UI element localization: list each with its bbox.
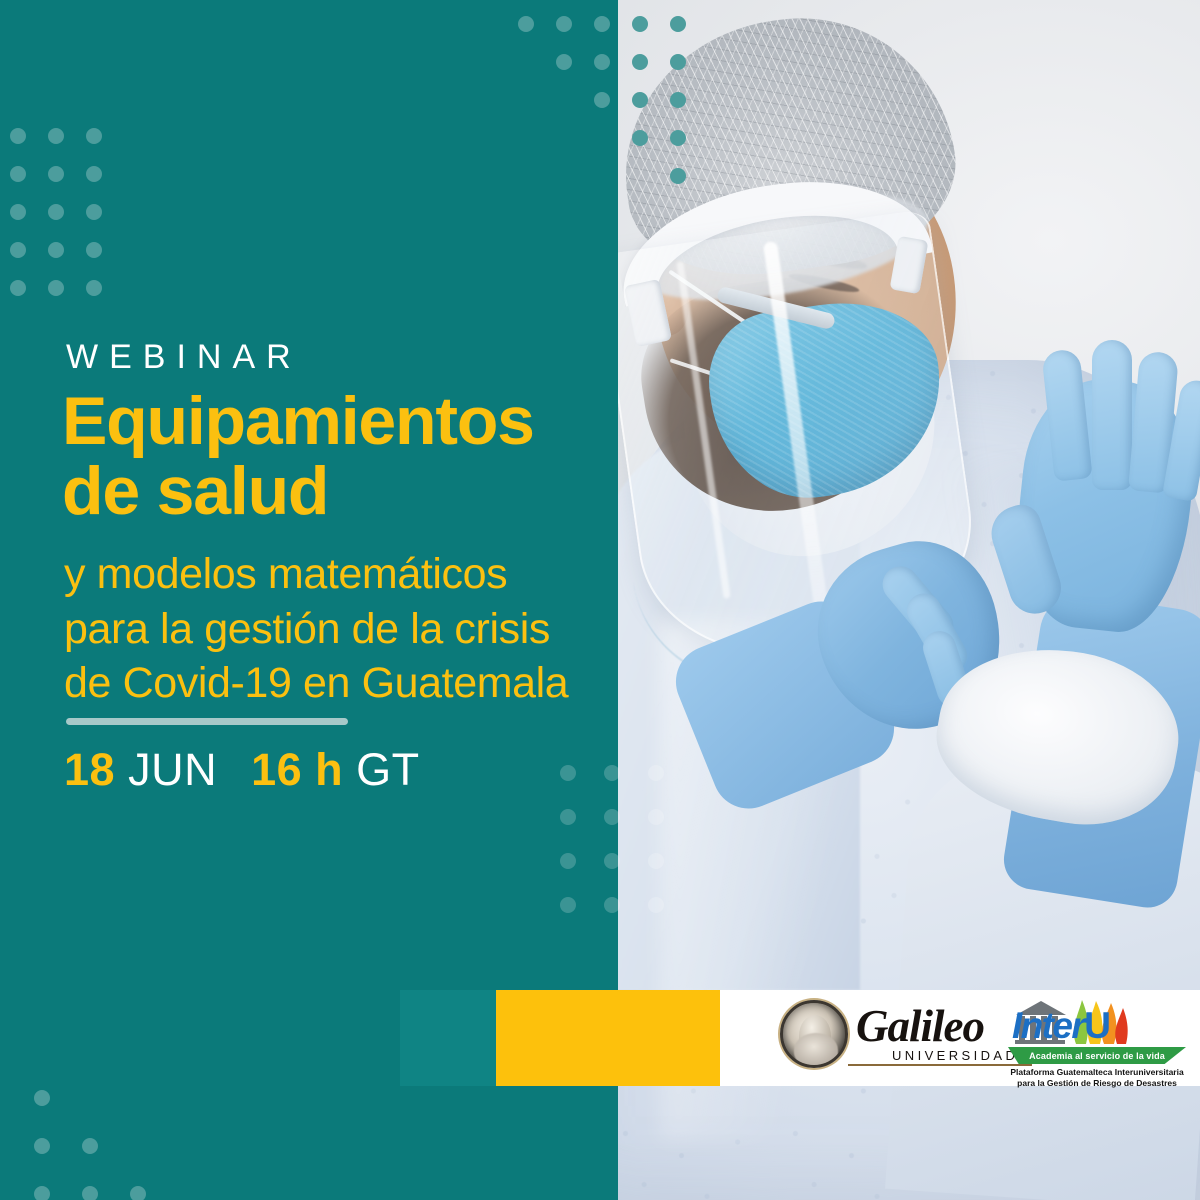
decorative-dot xyxy=(34,1138,50,1154)
decorative-dot xyxy=(86,166,102,182)
decorative-dot xyxy=(86,128,102,144)
decorative-dot xyxy=(560,809,576,825)
event-time: 16 h xyxy=(251,744,343,795)
decorative-dot xyxy=(82,1138,98,1154)
decorative-dot xyxy=(34,1186,50,1200)
decorative-dot xyxy=(34,1090,50,1106)
decorative-dot xyxy=(632,16,648,32)
page-title: Equipamientos de salud xyxy=(62,386,622,526)
decorative-dot xyxy=(86,204,102,220)
decorative-dot xyxy=(594,92,610,108)
upper-hand-finger xyxy=(1092,340,1132,490)
decorative-dot xyxy=(604,897,620,913)
decorative-dot xyxy=(632,130,648,146)
galileo-underline xyxy=(848,1064,1032,1066)
decorative-dot xyxy=(604,765,620,781)
decorative-dot xyxy=(10,242,26,258)
decorative-dot xyxy=(10,280,26,296)
decorative-dot xyxy=(10,166,26,182)
interu-banner: Academia al servicio de la vida xyxy=(1008,1047,1186,1064)
decorative-dot xyxy=(86,280,102,296)
page-subtitle-line2: para la gestión de la crisis xyxy=(64,602,624,657)
decorative-dot xyxy=(560,765,576,781)
decorative-dot xyxy=(518,16,534,32)
event-month: JUN xyxy=(128,744,217,795)
decorative-dot xyxy=(82,1186,98,1200)
interu-logo[interactable]: InterU Academia al servicio de la vida P… xyxy=(1008,998,1186,1089)
interu-tagline-line1: Plataforma Guatemalteca Interuniversitar… xyxy=(1008,1067,1186,1078)
galileo-wordmark: Galileo UNIVERSIDAD xyxy=(856,1005,1018,1064)
interu-name-part1: Inter xyxy=(1012,1005,1084,1046)
galileo-subtitle: UNIVERSIDAD xyxy=(892,1048,1018,1063)
decorative-dot xyxy=(632,54,648,70)
decorative-dot xyxy=(670,168,686,184)
decorative-dot xyxy=(648,897,664,913)
bottom-bar-yellow-block xyxy=(496,990,720,1086)
webinar-poster: WEBINAR Equipamientos de salud y modelos… xyxy=(0,0,1200,1200)
decorative-dot xyxy=(48,242,64,258)
galileo-bust-icon xyxy=(780,1000,848,1068)
decorative-dot xyxy=(594,16,610,32)
decorative-dot xyxy=(594,54,610,70)
page-title-line1: Equipamientos xyxy=(62,386,622,456)
galileo-logo[interactable]: Galileo UNIVERSIDAD xyxy=(780,1000,1018,1068)
decorative-dot xyxy=(670,54,686,70)
decorative-dot xyxy=(48,128,64,144)
decorative-dot xyxy=(48,280,64,296)
decorative-dot xyxy=(670,130,686,146)
decorative-dot xyxy=(670,16,686,32)
page-subtitle-line3: de Covid-19 en Guatemala xyxy=(64,656,624,711)
decorative-dot xyxy=(10,204,26,220)
decorative-dot xyxy=(670,92,686,108)
interu-wordmark: InterU xyxy=(1012,1007,1109,1044)
decorative-dot xyxy=(648,765,664,781)
event-datetime: 18 JUN16 h GT xyxy=(64,744,420,796)
decorative-dot xyxy=(604,853,620,869)
galileo-name: Galileo xyxy=(856,1005,984,1048)
decorative-dot xyxy=(648,809,664,825)
decorative-dot xyxy=(130,1186,146,1200)
decorative-dot xyxy=(48,204,64,220)
page-eyebrow: WEBINAR xyxy=(66,338,302,377)
page-subtitle-line1: y modelos matemáticos xyxy=(64,547,624,602)
interu-tagline: Plataforma Guatemalteca Interuniversitar… xyxy=(1008,1067,1186,1089)
decorative-dot xyxy=(556,54,572,70)
decorative-dot xyxy=(556,16,572,32)
decorative-dot xyxy=(604,809,620,825)
logo-bar: Galileo UNIVERSIDAD xyxy=(720,990,1200,1086)
interu-name-part2: U xyxy=(1084,1005,1109,1046)
decorative-dot xyxy=(560,897,576,913)
bottom-bar-teal-block xyxy=(400,990,496,1086)
page-subtitle: y modelos matemáticos para la gestión de… xyxy=(64,547,624,711)
event-timezone: GT xyxy=(356,744,420,795)
decorative-dot xyxy=(632,92,648,108)
interu-tagline-line2: para la Gestión de Riesgo de Desastres xyxy=(1008,1078,1186,1089)
page-title-line2: de salud xyxy=(62,456,622,526)
decorative-dot xyxy=(648,853,664,869)
interu-mark: InterU xyxy=(1008,998,1186,1046)
divider xyxy=(66,718,348,725)
decorative-dot xyxy=(10,128,26,144)
decorative-dot xyxy=(86,242,102,258)
decorative-dot xyxy=(48,166,64,182)
event-day: 18 xyxy=(64,744,115,795)
decorative-dot xyxy=(560,853,576,869)
